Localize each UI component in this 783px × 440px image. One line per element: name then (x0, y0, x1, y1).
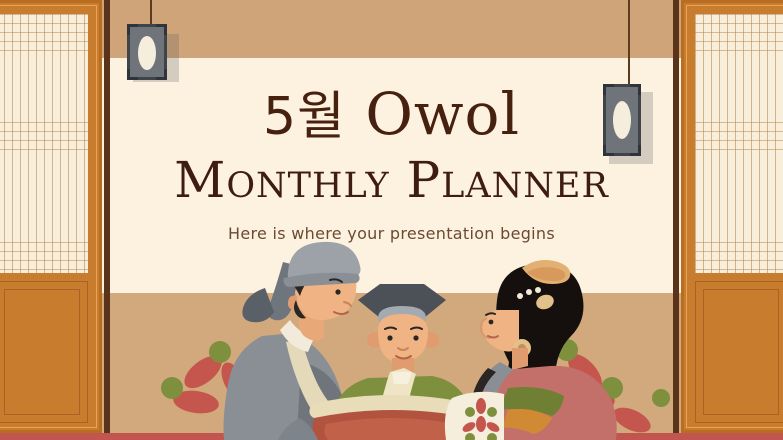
lantern-corner-icon (127, 69, 138, 80)
lantern-glow-near (138, 36, 156, 70)
hanging-lantern-near (123, 0, 179, 80)
lantern-corner-icon (156, 24, 167, 35)
slide-title-line-2: Monthly Planner (0, 152, 783, 208)
slide-title-line-1: 5월 Owol (0, 83, 783, 148)
door-lower-panel-right (695, 281, 783, 423)
lantern-cord-far (628, 0, 630, 86)
door-edge-left (104, 0, 110, 433)
title-korean-month: 5월 (263, 87, 346, 147)
figure-right-rose (445, 260, 617, 440)
title-roman-month: Owol (365, 80, 520, 148)
hanok-door-left (0, 0, 102, 433)
lantern-corner-icon (156, 69, 167, 80)
slide-subtitle: Here is where your presentation begins (0, 224, 783, 243)
presentation-slide: 5월 Owol Monthly Planner Here is where yo… (0, 0, 783, 440)
hanbok-figures-illustration (0, 0, 783, 440)
hanok-door-right (681, 0, 783, 433)
lantern-corner-icon (127, 24, 138, 35)
lantern-cord-near (150, 0, 152, 26)
door-lower-panel-left (0, 281, 88, 423)
floor-strip-left (0, 433, 130, 440)
door-edge-right (673, 0, 679, 433)
floor-strip-right (653, 433, 783, 440)
lantern-body-near (127, 24, 167, 80)
